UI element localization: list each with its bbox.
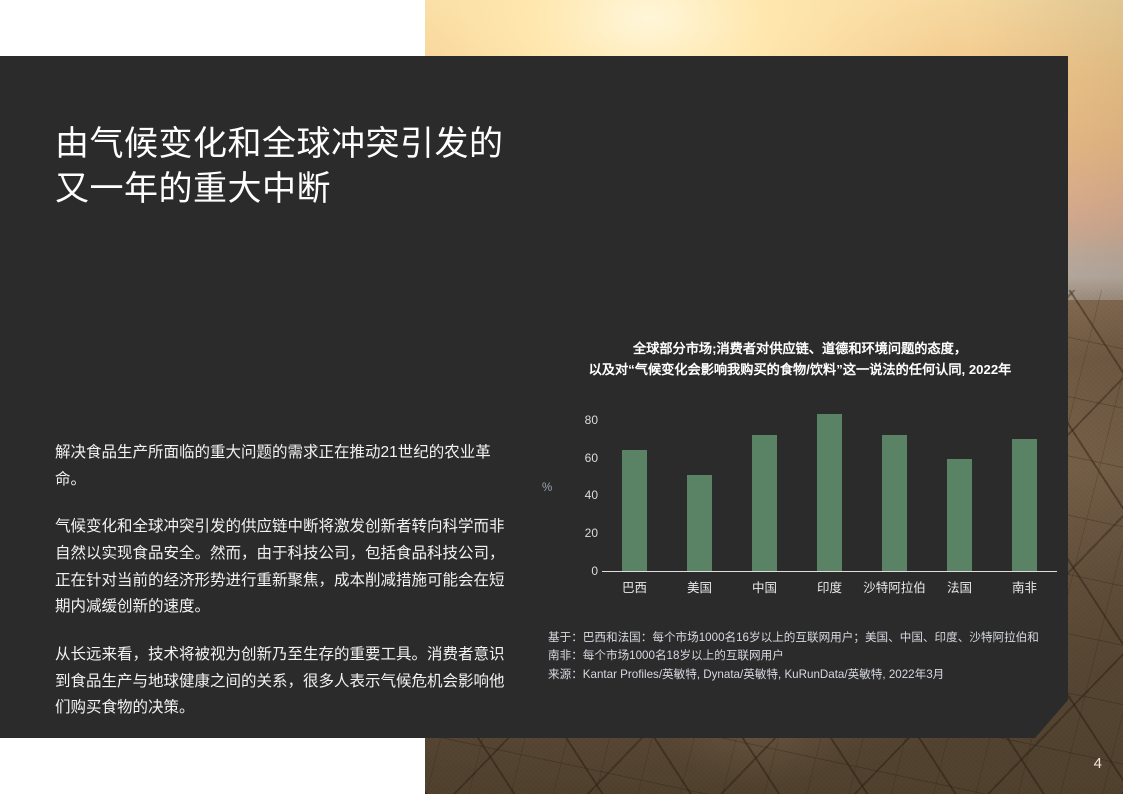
bar-法国: [947, 459, 972, 570]
bar-column: [668, 405, 732, 571]
y-axis-tick-label: 80: [540, 413, 598, 427]
x-axis-category-label: 美国: [668, 577, 732, 596]
bar-巴西: [622, 450, 647, 571]
page-title: 由气候变化和全球冲突引发的 又一年的重大中断: [55, 122, 575, 212]
body-paragraph: 气候变化和全球冲突引发的供应链中断将激发创新者转向科学而非自然以实现食品安全。然…: [55, 514, 515, 621]
y-axis-ticks: 020406080: [540, 405, 598, 571]
body-paragraph: 从长远来看，技术将被视为创新乃至生存的重要工具。消费者意识到食品生产与地球健康之…: [55, 642, 515, 722]
bar-column: [603, 405, 667, 571]
bar-column: [928, 405, 992, 571]
bar-南非: [1012, 439, 1037, 571]
body-copy: 解决食品生产所面临的重大问题的需求正在推动21世纪的农业革命。 气候变化和全球冲…: [55, 440, 515, 722]
bar-美国: [687, 475, 712, 571]
x-axis-labels: 巴西美国中国印度沙特阿拉伯法国南非: [602, 577, 1057, 596]
x-axis-category-label: 沙特阿拉伯: [863, 577, 927, 596]
bar-column: [733, 405, 797, 571]
x-axis-category-label: 巴西: [603, 577, 667, 596]
bar-column: [993, 405, 1057, 571]
page-number: 4: [1094, 755, 1102, 772]
chart-title: 全球部分市场;消费者对供应链、道德和环境问题的态度， 以及对“气候变化会影响我购…: [550, 338, 1050, 381]
x-axis-category-label: 印度: [798, 577, 862, 596]
x-axis-category-label: 法国: [928, 577, 992, 596]
bar-沙特阿拉伯: [882, 435, 907, 571]
x-axis-category-label: 中国: [733, 577, 797, 596]
bar-column: [798, 405, 862, 571]
y-axis-tick-label: 20: [540, 526, 598, 540]
bar-column: [863, 405, 927, 571]
x-axis-baseline: [602, 571, 1057, 572]
chart-footnote: 基于：巴西和法国：每个市场1000名16岁以上的互联网用户；美国、中国、印度、沙…: [548, 629, 1058, 684]
body-paragraph: 解决食品生产所面临的重大问题的需求正在推动21世纪的农业革命。: [55, 440, 515, 493]
x-axis-category-label: 南非: [993, 577, 1057, 596]
bar-印度: [817, 414, 842, 571]
y-axis-tick-label: 40: [540, 488, 598, 502]
bar-中国: [752, 435, 777, 571]
bar-chart-plot: % 020406080 巴西美国中国印度沙特阿拉伯法国南非: [540, 405, 1060, 593]
bar-series: [602, 405, 1057, 571]
y-axis-tick-label: 0: [540, 564, 598, 578]
chart-block: 全球部分市场;消费者对供应链、道德和环境问题的态度， 以及对“气候变化会影响我购…: [540, 338, 1060, 593]
y-axis-tick-label: 60: [540, 451, 598, 465]
